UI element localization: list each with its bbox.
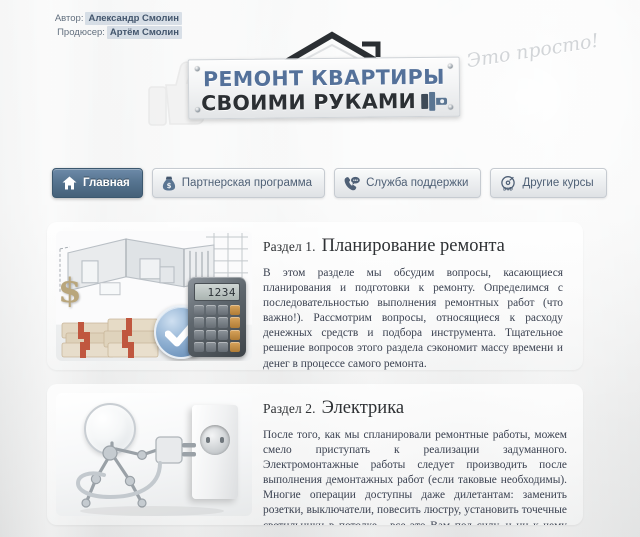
- calculator-keypad: [194, 305, 240, 352]
- author-label: Автор:: [55, 13, 84, 24]
- nav-label-other-courses: Другие курсы: [522, 177, 593, 189]
- svg-text:DVD: DVD: [504, 186, 514, 190]
- paintbrush-icon: [421, 91, 447, 110]
- section-1-body: Раздел 1.Планирование ремонта В этом раз…: [263, 222, 571, 370]
- section-2-name: Электрика: [322, 398, 405, 418]
- nav-item-partner-program[interactable]: $ Партнерская программа: [152, 168, 325, 198]
- credit-row-author: Автор:Александр Смолин: [0, 12, 182, 26]
- money-stacks-illustration: [60, 303, 164, 359]
- section-1-name: Планирование ремонта: [322, 236, 505, 256]
- section-2-text: После того, как мы спланировали ремонтны…: [263, 428, 571, 525]
- section-2-image: [56, 393, 252, 516]
- main-navigation: Главная $ Партнерская программа Служба п…: [52, 168, 607, 198]
- section-1-title: Раздел 1.Планирование ремонта: [263, 222, 571, 257]
- producer-name: Артём Смолин: [107, 26, 182, 39]
- author-credits: Автор:Александр Смолин Продюсер:Артём См…: [0, 12, 182, 40]
- plug-icon: [156, 437, 196, 463]
- dvd-disc-icon: DVD: [500, 176, 516, 191]
- home-icon: [62, 176, 77, 190]
- robot-body-illustration: [56, 393, 252, 516]
- nav-item-support[interactable]: Служба поддержки: [334, 168, 481, 198]
- nav-item-home[interactable]: Главная: [52, 168, 143, 198]
- calculator-display: 1234: [194, 283, 240, 301]
- section-2-number: Раздел 2.: [263, 401, 316, 416]
- money-bag-icon: $: [162, 176, 176, 191]
- credit-row-producer: Продюсер:Артём Смолин: [0, 26, 182, 40]
- section-1-number: Раздел 1.: [263, 239, 316, 254]
- nav-label-partner-program: Партнерская программа: [182, 177, 312, 189]
- phone-chat-icon: [344, 176, 360, 191]
- nav-label-support: Служба поддержки: [366, 177, 468, 189]
- section-card-2: Раздел 2.Электрика После того, как мы сп…: [47, 384, 583, 525]
- section-1-image: $: [56, 231, 252, 361]
- site-title-banner: РЕМОНТ КВАРТИРЫ СВОИМИ РУКАМИ: [188, 57, 461, 120]
- nav-item-other-courses[interactable]: DVD Другие курсы: [490, 168, 606, 198]
- calculator-illustration: 1234: [188, 277, 246, 357]
- section-2-title: Раздел 2.Электрика: [263, 384, 571, 419]
- nav-label-home: Главная: [83, 177, 130, 189]
- banner-line-1: РЕМОНТ КВАРТИРЫ: [189, 65, 459, 92]
- section-card-1: $: [47, 222, 583, 370]
- section-1-text: В этом разделе мы обсудим вопросы, касаю…: [263, 266, 571, 370]
- svg-text:$: $: [166, 182, 171, 190]
- banner-line-2: СВОИМИ РУКАМИ: [201, 89, 416, 115]
- author-name: Александр Смолин: [85, 12, 182, 25]
- producer-label: Продюсер:: [57, 27, 105, 38]
- section-2-body: Раздел 2.Электрика После того, как мы сп…: [263, 384, 571, 525]
